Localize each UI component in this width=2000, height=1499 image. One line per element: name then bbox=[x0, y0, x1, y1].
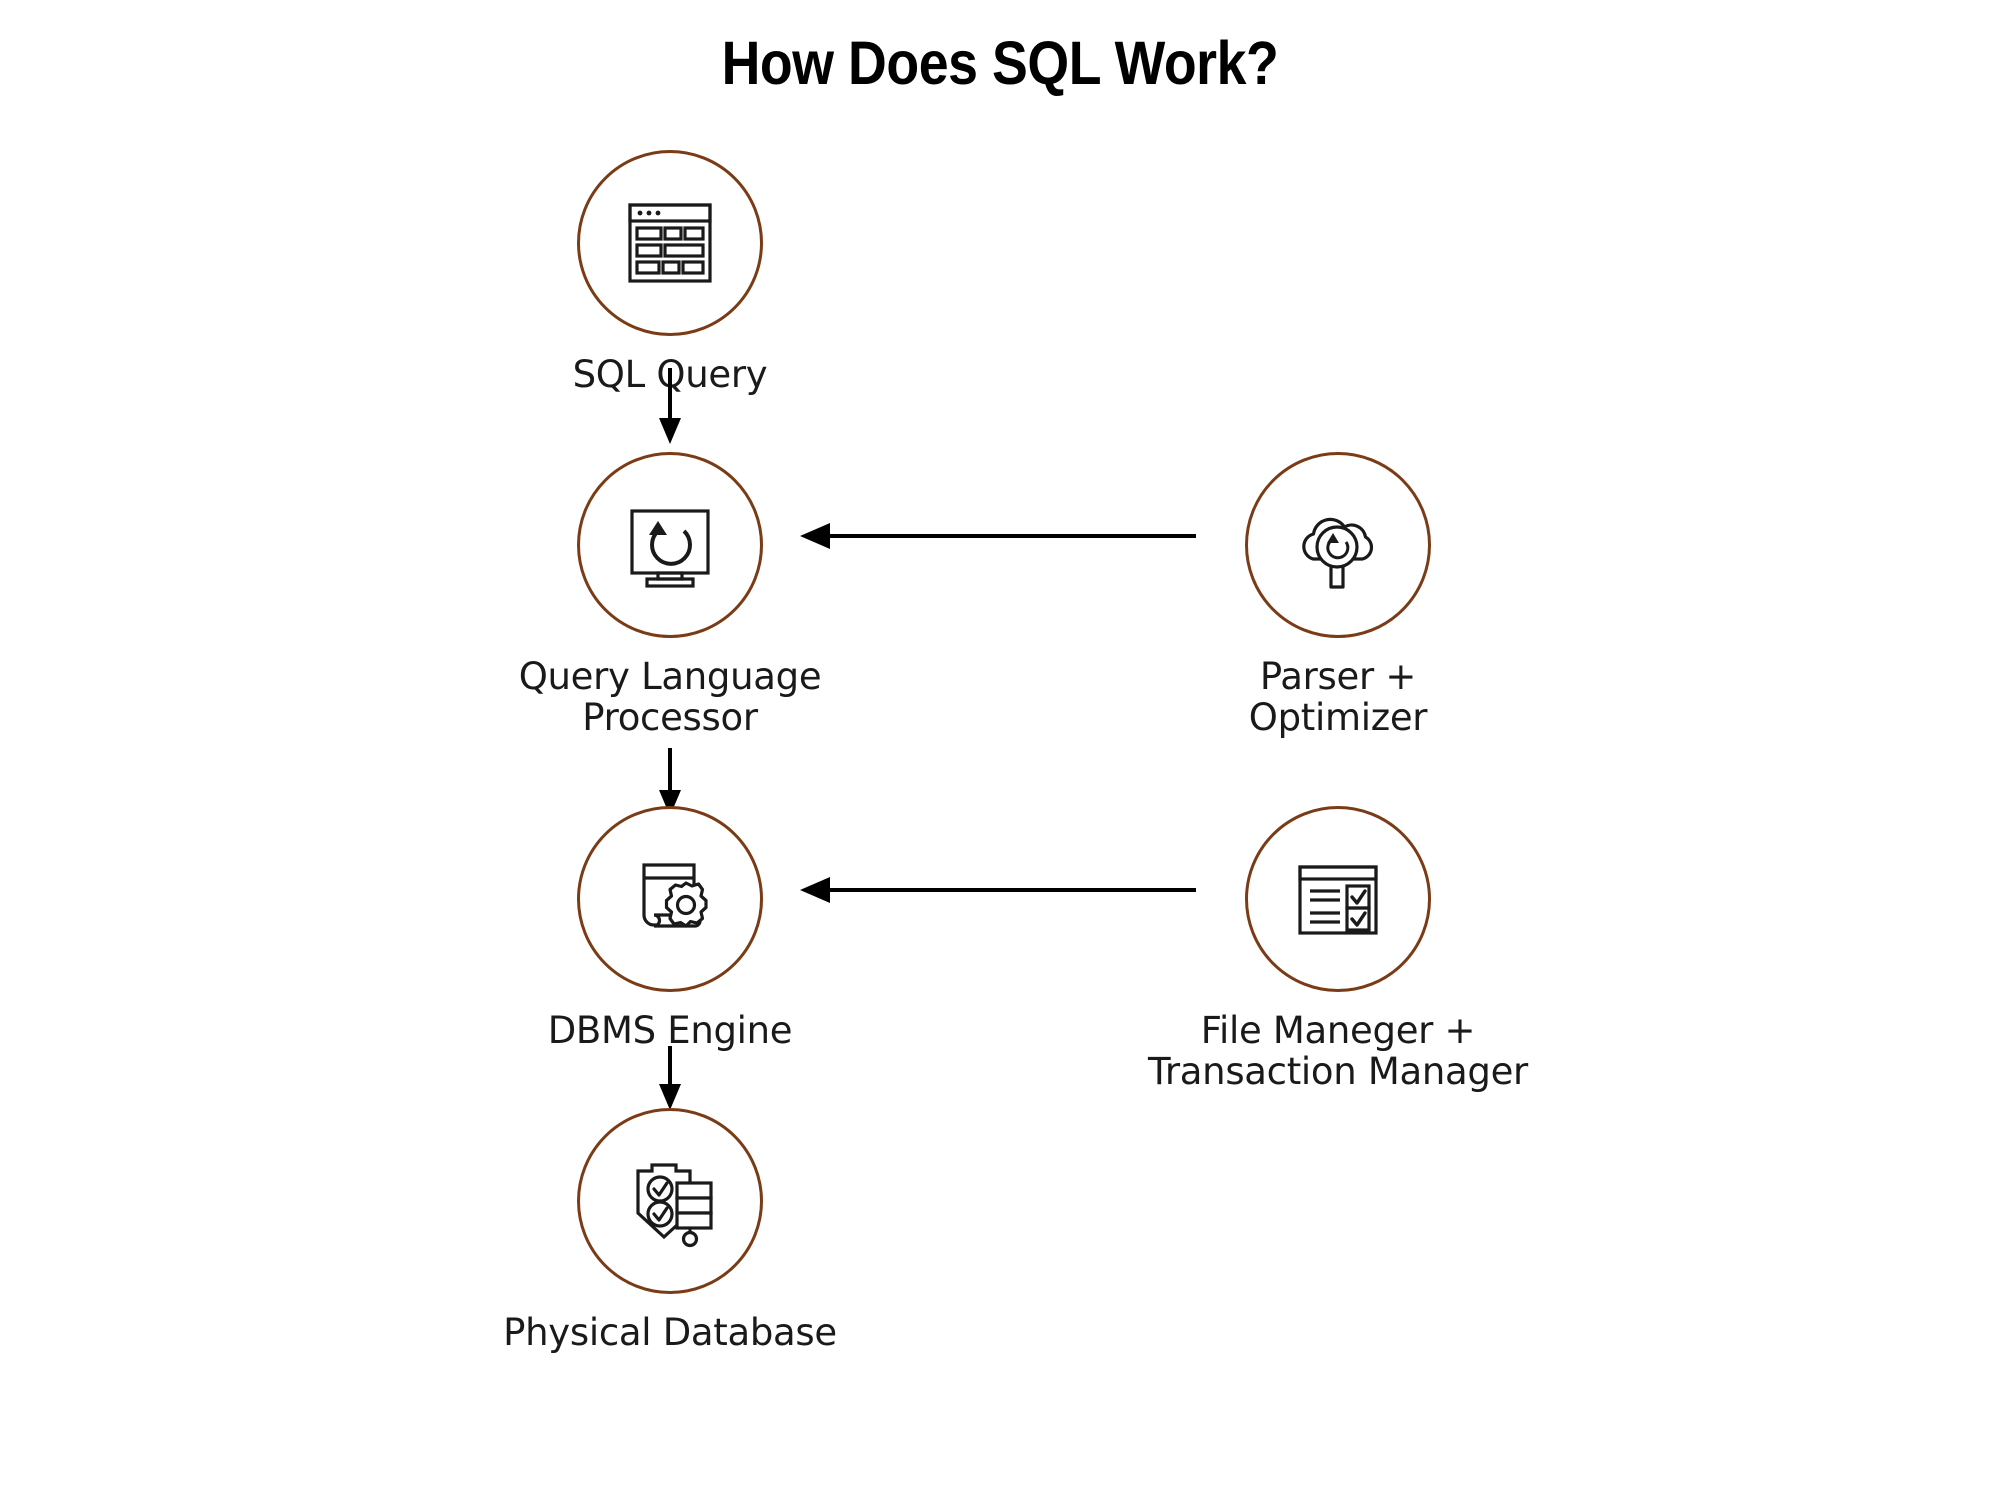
diagram-canvas: How Does SQL Work? bbox=[0, 0, 2000, 1499]
node-query-language-processor[interactable]: Query Language Processor bbox=[500, 452, 840, 739]
shield-database-icon bbox=[620, 1151, 720, 1251]
node-label-parser-optimizer: Parser + Optimizer bbox=[1168, 656, 1508, 739]
node-circle-file-transaction-manager bbox=[1245, 806, 1431, 992]
arrow-dbms-to-physical-database bbox=[655, 1046, 685, 1112]
arrow-sql-query-to-processor bbox=[655, 368, 685, 446]
document-gear-icon bbox=[620, 849, 720, 949]
node-physical-database[interactable]: Physical Database bbox=[500, 1108, 840, 1353]
node-circle-parser-optimizer bbox=[1245, 452, 1431, 638]
node-file-transaction-manager[interactable]: File Maneger + Transaction Manager bbox=[1168, 806, 1508, 1093]
node-label-physical-database: Physical Database bbox=[500, 1312, 840, 1353]
node-dbms-engine[interactable]: DBMS Engine bbox=[500, 806, 840, 1051]
node-circle-query-language-processor bbox=[577, 452, 763, 638]
node-parser-optimizer[interactable]: Parser + Optimizer bbox=[1168, 452, 1508, 739]
node-label-file-transaction-manager: File Maneger + Transaction Manager bbox=[1108, 1010, 1568, 1093]
node-circle-sql-query bbox=[577, 150, 763, 336]
page-title: How Does SQL Work? bbox=[120, 30, 1880, 97]
browser-window-icon bbox=[620, 193, 720, 293]
arrow-filemanager-to-dbms bbox=[800, 872, 1196, 908]
node-circle-physical-database bbox=[577, 1108, 763, 1294]
node-sql-query[interactable]: SQL Query bbox=[500, 150, 840, 395]
node-circle-dbms-engine bbox=[577, 806, 763, 992]
checklist-form-icon bbox=[1288, 849, 1388, 949]
cloud-magnifier-refresh-icon bbox=[1288, 495, 1388, 595]
node-label-query-language-processor: Query Language Processor bbox=[500, 656, 840, 739]
arrow-parser-to-processor bbox=[800, 518, 1196, 554]
monitor-refresh-icon bbox=[620, 495, 720, 595]
